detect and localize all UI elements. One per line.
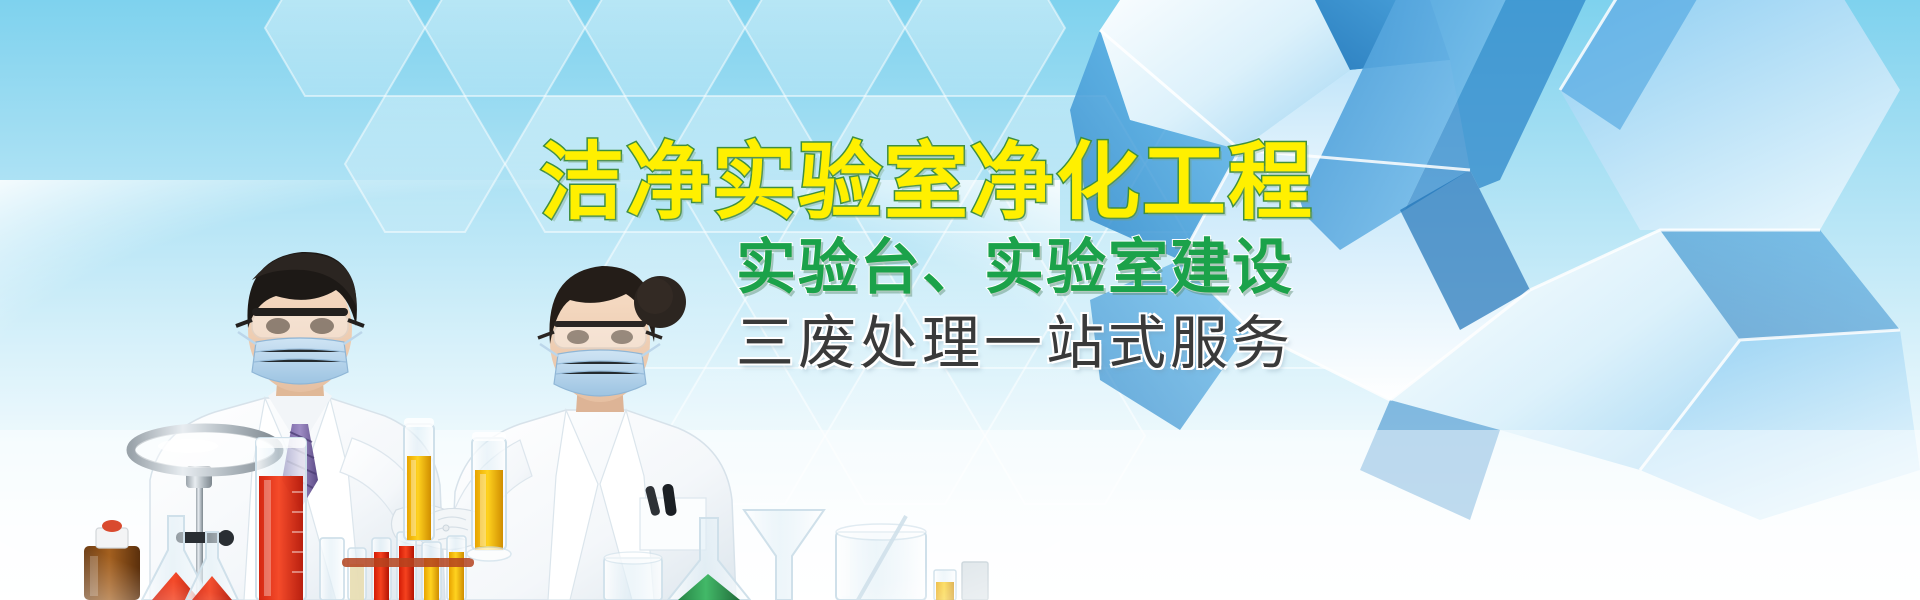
subtitle-secondary: 三废处理一站式服务 [540,314,1600,375]
lab-banner: 洁净实验室净化工程 实验台、实验室建设 三废处理一站式服务 [0,0,1920,600]
subtitle-primary: 实验台、实验室建设 [540,238,1600,298]
headline-group: 洁净实验室净化工程 实验台、实验室建设 三废处理一站式服务 [540,140,1600,375]
page-title: 洁净实验室净化工程 [540,140,1600,224]
